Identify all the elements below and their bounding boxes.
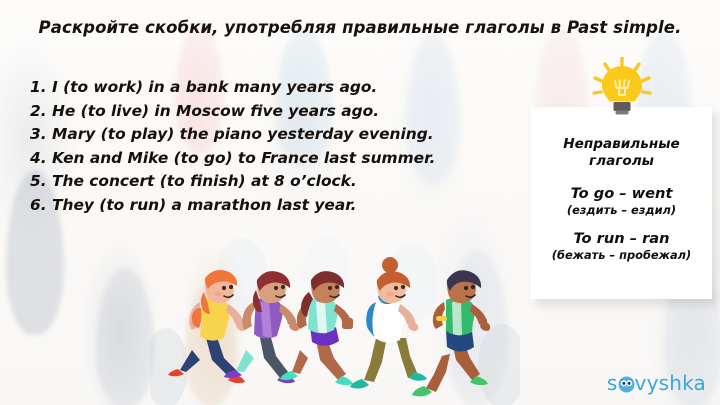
task-item: 1. I (to work) in a bank many years ago. xyxy=(30,76,500,100)
card-heading: Неправильные глаголы xyxy=(531,136,712,169)
task-number: 6. xyxy=(30,194,52,218)
task-number: 5. xyxy=(30,170,52,194)
verb-russian: (бежать – пробежал) xyxy=(531,248,712,262)
card-heading-line1: Неправильные xyxy=(531,136,712,153)
task-item: 3. Mary (to play) the piano yesterday ev… xyxy=(30,123,500,147)
task-text: I (to work) in a bank many years ago. xyxy=(52,76,377,100)
card-heading-line2: глаголы xyxy=(531,153,712,170)
task-text: The concert (to finish) at 8 o’clock. xyxy=(52,170,357,194)
lightbulb-icon xyxy=(586,57,658,119)
task-text: Mary (to play) the piano yesterday eveni… xyxy=(52,123,434,147)
task-item: 6. They (to run) a marathon last year. xyxy=(30,194,500,218)
running-children-illustration xyxy=(150,238,520,405)
sovyshka-logo: s vyshka xyxy=(607,370,706,396)
owl-icon xyxy=(618,376,635,393)
task-list: 1. I (to work) in a bank many years ago.… xyxy=(30,76,500,217)
verb-russian: (ездить – ездил) xyxy=(531,203,712,217)
slide-title: Раскройте скобки, употребляя правильные … xyxy=(0,18,720,37)
task-number: 2. xyxy=(30,100,52,124)
task-number: 3. xyxy=(30,123,52,147)
logo-text-before: s xyxy=(607,373,618,393)
verb-entry: To run – ran (бежать – пробежал) xyxy=(531,230,712,262)
task-number: 1. xyxy=(30,76,52,100)
task-item: 5. The concert (to finish) at 8 o’clock. xyxy=(30,170,500,194)
task-item: 2. He (to live) in Moscow five years ago… xyxy=(30,100,500,124)
logo-text-after: vyshka xyxy=(635,373,706,393)
irregular-verbs-card: Неправильные глаголы To go – went (ездит… xyxy=(531,107,712,299)
verb-english: To run – ran xyxy=(531,230,712,248)
verb-entry: To go – went (ездить – ездил) xyxy=(531,185,712,217)
verb-english: To go – went xyxy=(531,185,712,203)
task-text: Ken and Mike (to go) to France last summ… xyxy=(52,147,435,171)
background-silhouette xyxy=(96,268,154,405)
task-number: 4. xyxy=(30,147,52,171)
task-text: He (to live) in Moscow five years ago. xyxy=(52,100,379,124)
task-text: They (to run) a marathon last year. xyxy=(52,194,356,218)
task-item: 4. Ken and Mike (to go) to France last s… xyxy=(30,147,500,171)
slide-canvas: Раскройте скобки, употребляя правильные … xyxy=(0,0,720,405)
